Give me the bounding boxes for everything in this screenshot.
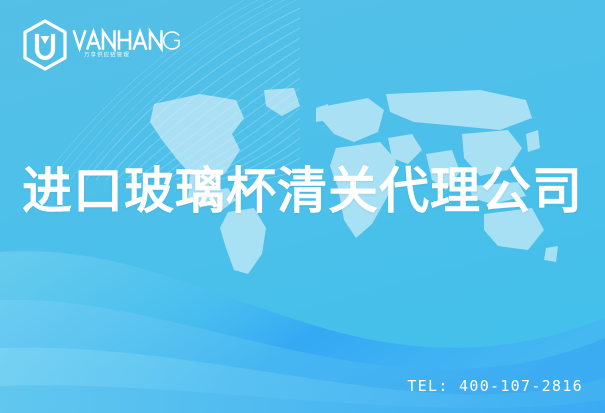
promo-banner: 万享供应链管理 进口玻璃杯清关代理公司 TEL: 400-107-2816 [0, 0, 605, 413]
page-title: 进口玻璃杯清关代理公司 [0, 163, 605, 219]
logo-text-block: 万享供应链管理 [72, 25, 182, 65]
brand-logo[interactable]: 万享供应链管理 [22, 17, 182, 73]
hexagon-u-mark-icon [22, 19, 68, 71]
logo-subtitle: 万享供应链管理 [84, 50, 130, 58]
contact-phone: TEL: 400-107-2816 [407, 377, 583, 395]
